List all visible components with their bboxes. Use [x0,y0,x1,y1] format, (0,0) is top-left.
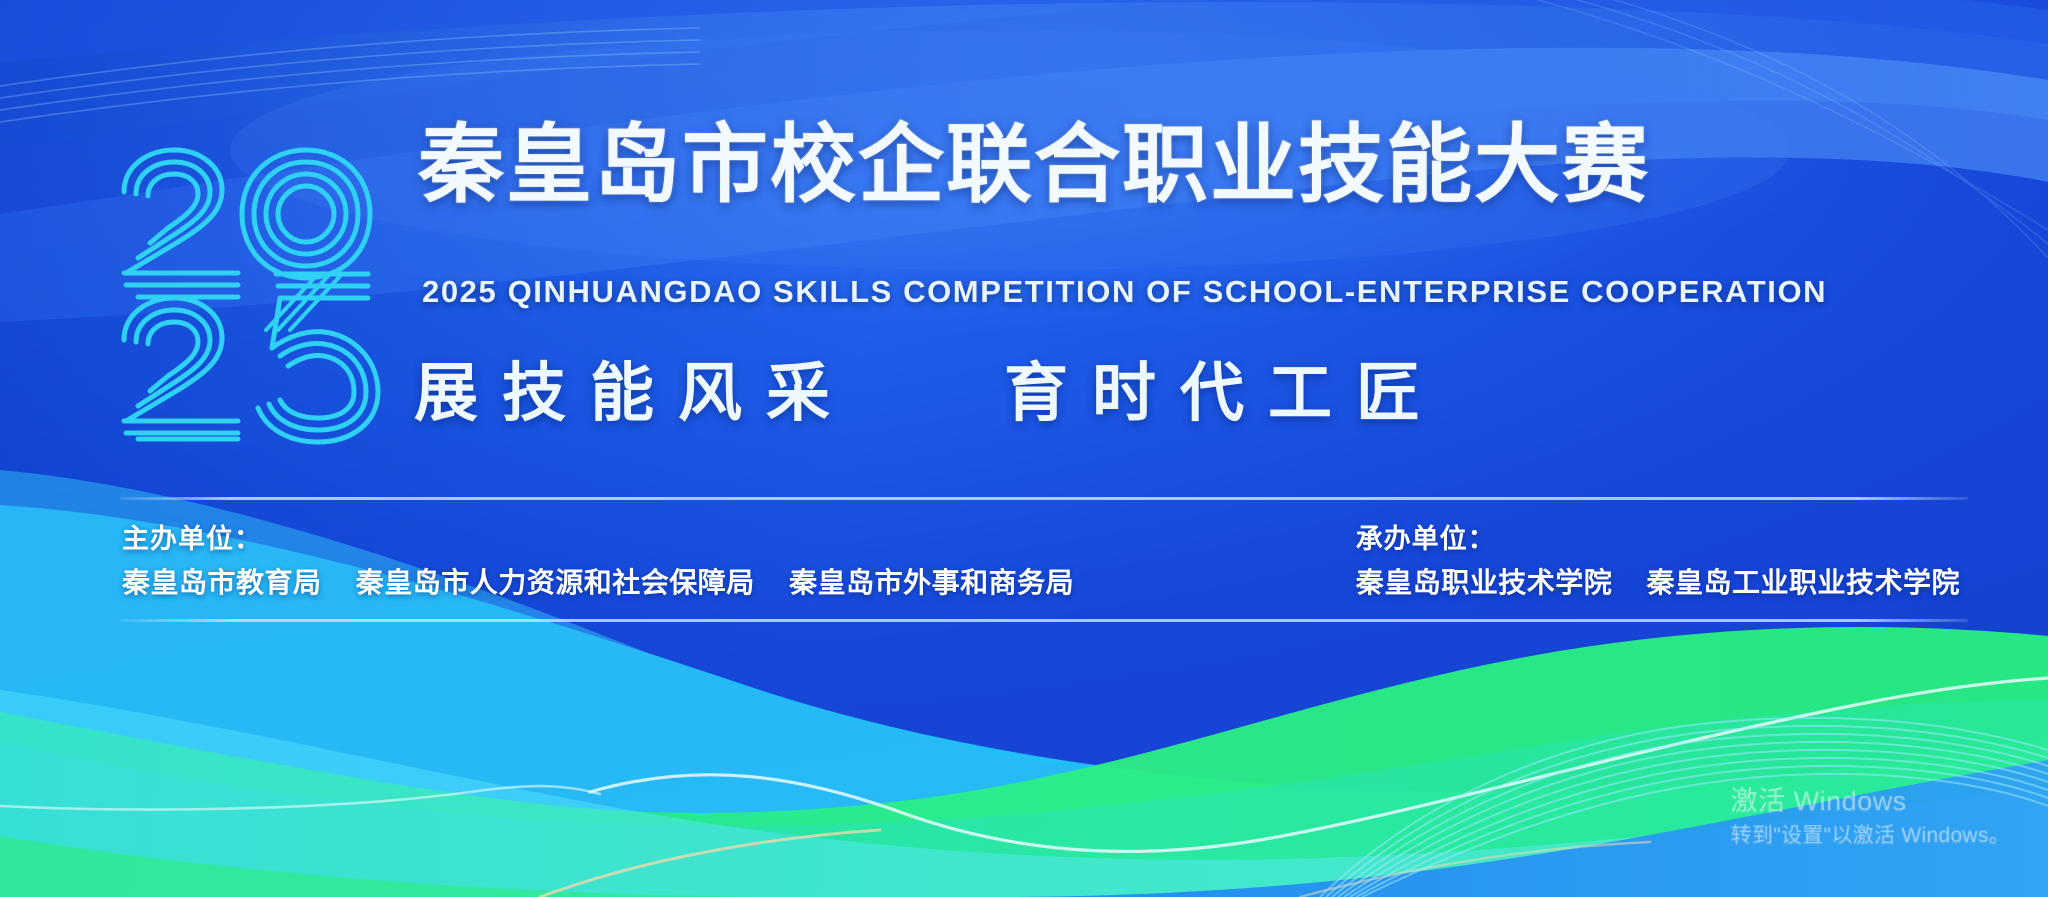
english-subtitle: 2025 QINHUANGDAO SKILLS COMPETITION OF S… [422,276,1827,307]
organizer-column: 承办单位： 秦皇岛职业技术学院 秦皇岛工业职业技术学院 [1356,526,1966,597]
credits-row: 主办单位： 秦皇岛市教育局 秦皇岛市人力资源和社会保障局 秦皇岛市外事和商务局 … [120,500,1968,619]
host-org: 秦皇岛市外事和商务局 [789,567,1074,598]
organizer-org: 秦皇岛职业技术学院 [1356,567,1613,598]
organizer-label: 承办单位： [1356,526,1960,553]
credits-block: 主办单位： 秦皇岛市教育局 秦皇岛市人力资源和社会保障局 秦皇岛市外事和商务局 … [120,497,1968,622]
host-column: 主办单位： 秦皇岛市教育局 秦皇岛市人力资源和社会保障局 秦皇岛市外事和商务局 [122,526,1074,597]
slogan-right: 育时代工匠 [1004,356,1444,432]
credits-divider-bottom [120,619,1968,622]
organizer-org: 秦皇岛工业职业技术学院 [1646,567,1960,598]
logo-digit-0-top-right [242,150,370,278]
logo-digit-2-bottom-left [124,298,238,439]
host-organizations: 秦皇岛市教育局 秦皇岛市人力资源和社会保障局 秦皇岛市外事和商务局 [122,569,1074,597]
host-label: 主办单位： [122,526,1074,553]
slogan: 展技能风采 育时代工匠 [414,356,2014,432]
logo-digit-2-top-left [124,150,238,297]
year-logo-2025 [112,140,412,445]
host-org: 秦皇岛市教育局 [122,567,322,598]
slogan-left: 展技能风采 [414,356,854,432]
year-logo-graphic [112,140,412,445]
page-title: 秦皇岛市校企联合职业技能大赛 [418,122,1650,208]
banner-backdrop: 秦皇岛市校企联合职业技能大赛 2025 QINHUANGDAO SKILLS C… [0,0,2048,897]
organizer-organizations: 秦皇岛职业技术学院 秦皇岛工业职业技术学院 [1356,569,1960,597]
host-org: 秦皇岛市人力资源和社会保障局 [356,567,755,598]
